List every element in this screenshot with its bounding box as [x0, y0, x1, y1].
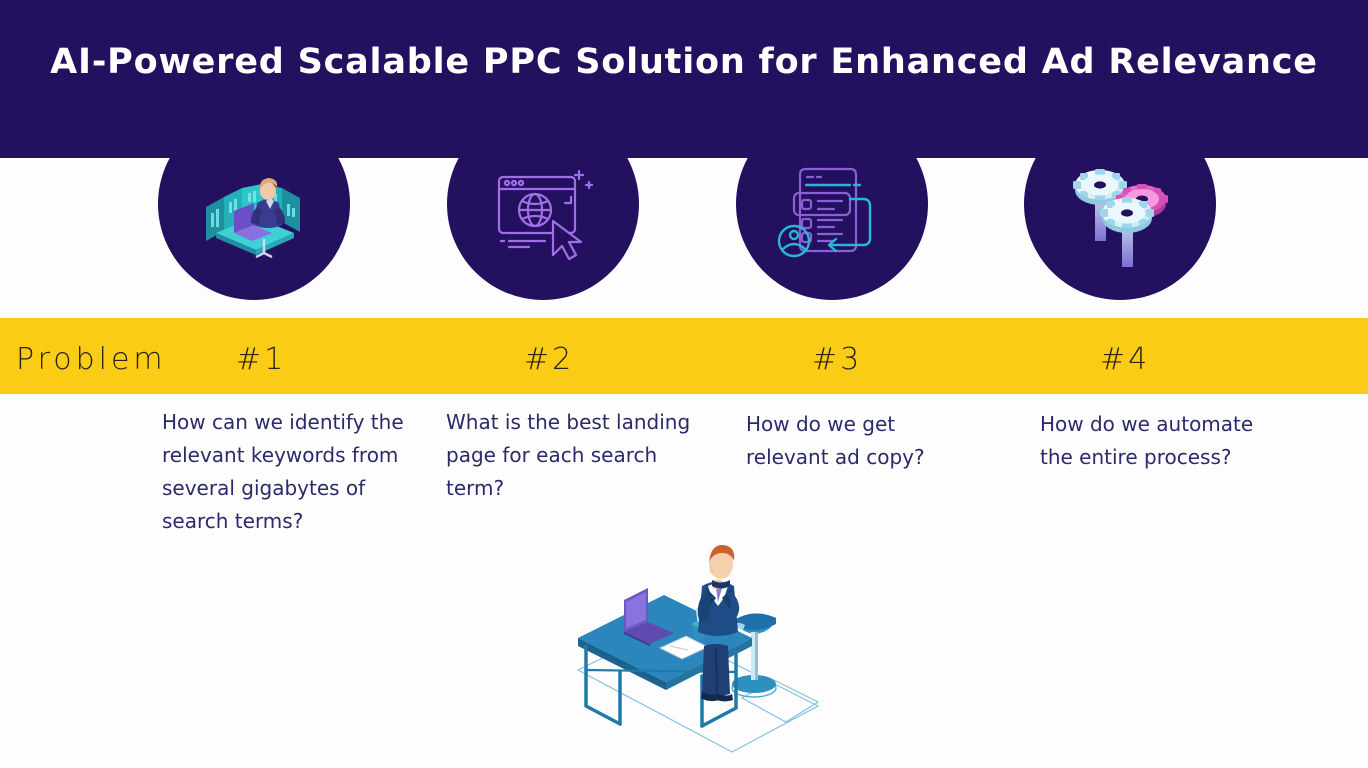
- problem-number-4: #4: [1100, 342, 1150, 377]
- businessman-thinking-desk-illustration: [556, 520, 846, 760]
- problem-band: [0, 318, 1368, 394]
- gears-automation-icon: [1060, 155, 1180, 275]
- form-list-user-icon: [772, 155, 892, 275]
- browser-globe-cursor-icon: [483, 155, 603, 275]
- question-text-4: How do we automate the entire process?: [1040, 408, 1270, 474]
- header-band: AI-Powered Scalable PPC Solution for Enh…: [0, 0, 1368, 158]
- problem-number-3: #3: [812, 342, 862, 377]
- problem-number-1: #1: [236, 342, 286, 377]
- question-text-1: How can we identify the relevant keyword…: [162, 406, 412, 538]
- problem-label: Problem: [16, 342, 167, 377]
- problem-number-2: #2: [524, 342, 574, 377]
- question-text-2: What is the best landing page for each s…: [446, 406, 696, 505]
- page-title: AI-Powered Scalable PPC Solution for Enh…: [0, 42, 1368, 82]
- question-text-3: How do we get relevant ad copy?: [746, 408, 976, 474]
- analyst-data-screens-icon: [194, 155, 314, 275]
